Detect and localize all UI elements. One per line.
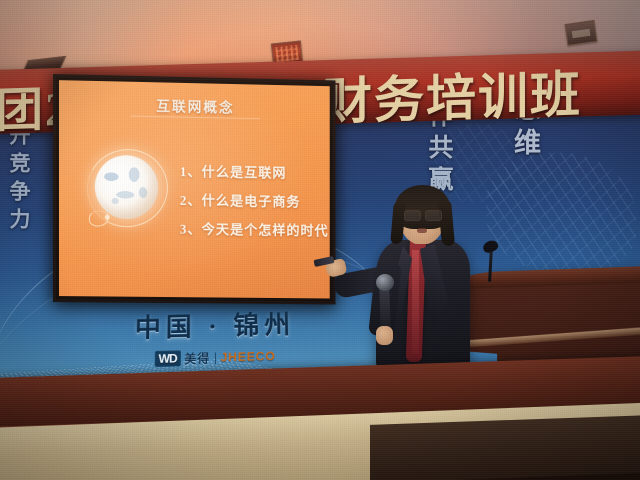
stage-logo-city: 中国 · 锦州 xyxy=(110,304,320,346)
list-item: 2、什么是电子商务 xyxy=(180,189,322,211)
slide-title: 互联网概念 xyxy=(59,94,330,119)
presenter-scarf-highlight xyxy=(412,250,419,354)
glasses-icon xyxy=(404,210,442,219)
globe-swirl-dot xyxy=(105,215,110,220)
list-item: 1、什么是互联网 xyxy=(180,160,322,182)
floor-shadow-right xyxy=(370,415,640,480)
brand-mark-wd: WD xyxy=(154,351,180,367)
presenter-microphone-hand xyxy=(376,326,393,345)
stage-logo-block: 中国 · 锦州 WD 美得 | JHEECO xyxy=(109,304,321,370)
brand-name-cn: 美得 xyxy=(184,349,210,367)
brand-separator: | xyxy=(214,351,217,365)
stage-brand-lockup: WD 美得 | JHEECO xyxy=(154,347,275,368)
list-item: 3、今天是个怎样的时代 xyxy=(180,218,322,240)
presenter-hair-right xyxy=(438,200,455,247)
slide-bullet-list: 1、什么是互联网 2、什么是电子商务 3、今天是个怎样的时代 xyxy=(180,160,322,248)
slide-surface: 互联网概念 1、什么是互联网 2、什么是电子商务 3、今天是个怎样的时代 xyxy=(59,80,330,298)
globe-icon xyxy=(83,143,178,240)
brand-name-en: JHEECO xyxy=(220,349,275,364)
handheld-microphone-body xyxy=(379,284,391,332)
presenter-hair-left xyxy=(390,202,406,245)
presentation-photo-scene: 提升竞争力 合作共赢 新思维 团20 财务培训班 互联网概念 1、什么是互联网 … xyxy=(0,0,640,480)
projection-screen: 互联网概念 1、什么是互联网 2、什么是电子商务 3、今天是个怎样的时代 xyxy=(53,74,336,304)
presenter-mouth xyxy=(417,228,427,233)
handheld-microphone-icon xyxy=(376,274,394,291)
ceiling-vent-right-icon xyxy=(565,20,598,46)
